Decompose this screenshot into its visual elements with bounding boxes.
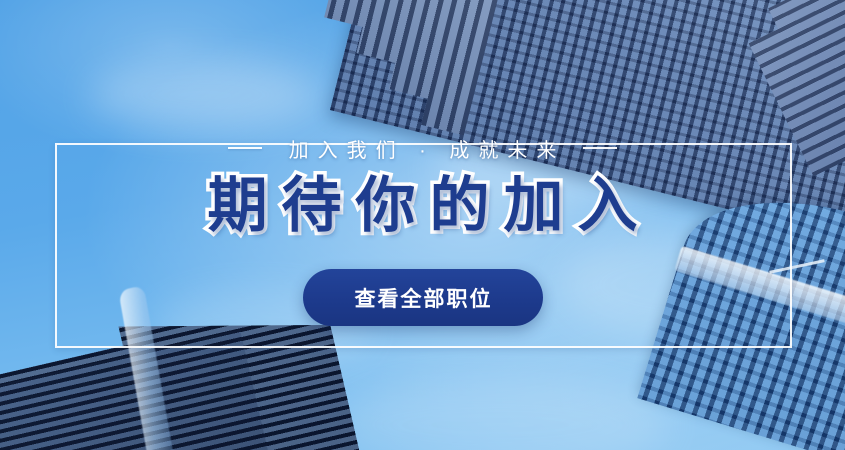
view-all-positions-button[interactable]: 查看全部职位 xyxy=(303,269,543,326)
recruitment-hero-banner: 加入我们 · 成就未来 期待你的加入 查看全部职位 xyxy=(0,0,845,450)
subtitle-rule-right xyxy=(583,147,617,149)
subtitle-rule-left xyxy=(228,147,262,149)
subtitle-row: 加入我们 · 成就未来 xyxy=(228,131,618,165)
banner-content: 加入我们 · 成就未来 期待你的加入 查看全部职位 xyxy=(0,0,845,450)
banner-subtitle: 加入我们 · 成就未来 xyxy=(280,134,566,163)
cta-wrapper: 查看全部职位 xyxy=(303,269,543,326)
banner-title: 期待你的加入 xyxy=(194,172,652,239)
